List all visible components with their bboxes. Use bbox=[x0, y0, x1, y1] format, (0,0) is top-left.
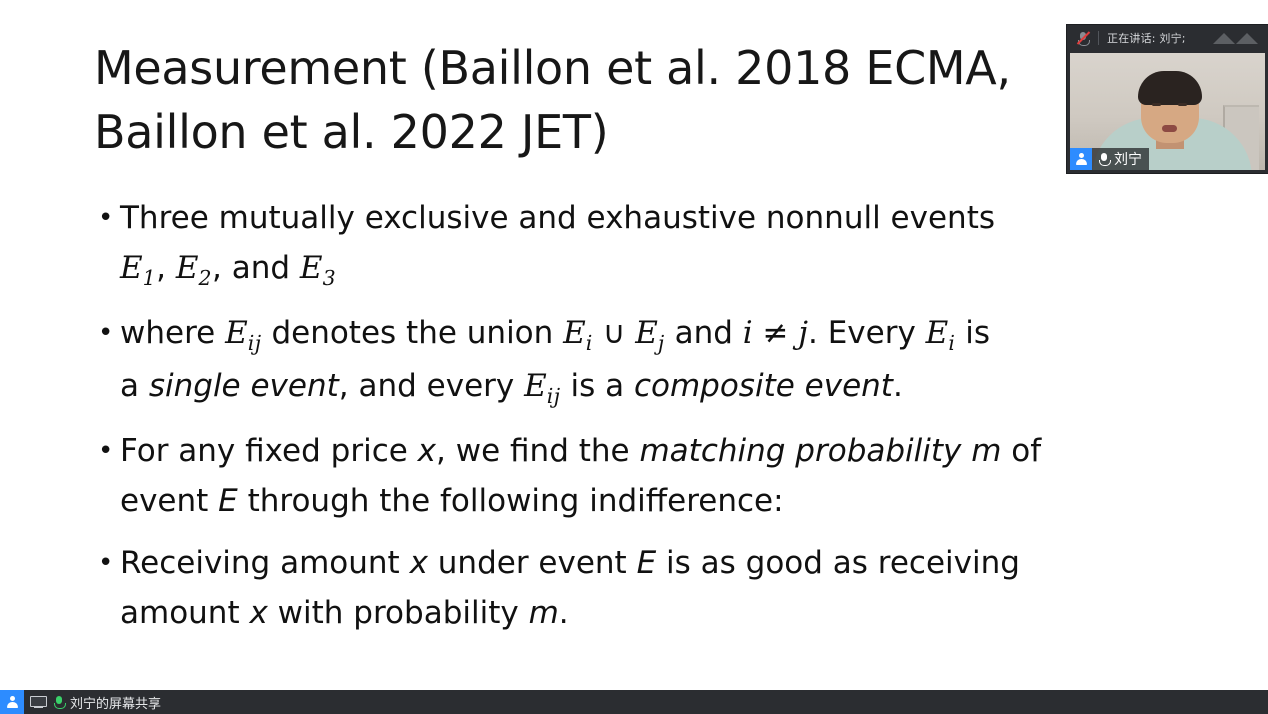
union-operator: ∪ bbox=[593, 315, 635, 351]
text-denotes-union: denotes the union bbox=[262, 315, 564, 351]
math-var-eij: Eij bbox=[225, 315, 262, 351]
bullet-marker-icon: • bbox=[98, 193, 113, 243]
text-every: . Every bbox=[808, 315, 926, 351]
math-var-x-3: x bbox=[249, 595, 267, 631]
math-var-E: E bbox=[218, 483, 238, 519]
video-person-hair bbox=[1138, 71, 1202, 105]
math-var-eij-2: Eij bbox=[524, 368, 561, 404]
bullet-indifference: • Receiving amount x under event E is as… bbox=[92, 538, 1182, 638]
text-for-any-fixed-price: For any fixed price bbox=[120, 433, 418, 469]
active-speaker-label: 正在讲话: 刘宁; bbox=[1107, 30, 1186, 46]
bullet-events: • Three mutually exclusive and exhaustiv… bbox=[92, 193, 1182, 296]
text-amount: amount bbox=[120, 595, 249, 631]
bullet-events-line-2: E1, E2, and E3 bbox=[120, 243, 1182, 296]
bullet-events-line-1: Three mutually exclusive and exhaustive … bbox=[120, 193, 1182, 243]
math-var-j: j bbox=[798, 315, 808, 351]
bullet-union-line-2: a single event, and every Eij is a compo… bbox=[120, 361, 1182, 414]
math-var-ej: Ej bbox=[635, 315, 664, 351]
math-var-e3: E3 bbox=[300, 250, 336, 286]
text-as-good-as-receiving: is as good as receiving bbox=[656, 545, 1020, 581]
slide-title-line-2: Baillon et al. 2022 JET) bbox=[94, 105, 608, 159]
emphasis-composite-event: composite event bbox=[634, 368, 893, 404]
text-and: , and bbox=[212, 250, 300, 286]
math-var-m: m bbox=[529, 595, 559, 631]
screen-share-status-label: 刘宁的屏幕共享 bbox=[67, 693, 161, 712]
text-with-probability: with probability bbox=[268, 595, 529, 631]
math-var-i: i bbox=[743, 315, 753, 351]
text-period: . bbox=[893, 368, 903, 404]
text-of: of bbox=[1001, 433, 1041, 469]
text-is: is bbox=[955, 315, 990, 351]
emphasis-single-event: single event bbox=[149, 368, 339, 404]
bullet-marker-icon: • bbox=[98, 426, 113, 476]
math-var-E-2: E bbox=[637, 545, 657, 581]
text-where: where bbox=[120, 315, 225, 351]
text-a: a bbox=[120, 368, 149, 404]
bullet-indifference-line-1: Receiving amount x under event E is as g… bbox=[120, 538, 1182, 588]
emphasis-matching-probability: matching probability m bbox=[639, 433, 1001, 469]
bullet-indifference-line-2: amount x with probability m. bbox=[120, 588, 1182, 638]
participant-video-panel[interactable]: 正在讲话: 刘宁; 刘宁 bbox=[1067, 25, 1268, 173]
page-title: Measurement (Baillon et al. 2018 ECMA, B… bbox=[94, 36, 1054, 164]
not-equal-operator: ≠ bbox=[753, 315, 799, 351]
text-receiving-amount: Receiving amount bbox=[120, 545, 410, 581]
bullet-matching-line-1: For any fixed price x, we find the match… bbox=[120, 426, 1182, 476]
bullet-matching-line-2: event E through the following indifferen… bbox=[120, 476, 1182, 526]
mic-on-icon bbox=[1097, 151, 1111, 167]
chevrons-collapse-icon[interactable] bbox=[1213, 33, 1258, 44]
slide-bullet-list: • Three mutually exclusive and exhaustiv… bbox=[92, 193, 1182, 638]
bullet-marker-icon: • bbox=[98, 538, 113, 588]
text-we-find-the: , we find the bbox=[436, 433, 639, 469]
bullet-marker-icon: • bbox=[98, 308, 113, 358]
toolbar-divider bbox=[1098, 31, 1099, 45]
video-person-mouth bbox=[1162, 125, 1177, 132]
participant-name-label: 刘宁 bbox=[1112, 149, 1149, 169]
text-event: event bbox=[120, 483, 218, 519]
slide-title-line-1: Measurement (Baillon et al. 2018 ECMA, bbox=[94, 41, 1011, 95]
text-under-event: under event bbox=[428, 545, 637, 581]
math-var-ei-2: Ei bbox=[926, 315, 956, 351]
text-comma-1: , bbox=[156, 250, 176, 286]
person-icon bbox=[1070, 148, 1092, 170]
text-and-2: and bbox=[665, 315, 743, 351]
math-var-ei: Ei bbox=[563, 315, 593, 351]
screen-share-status-bar: 刘宁的屏幕共享 bbox=[0, 690, 1268, 714]
mic-muted-icon[interactable] bbox=[1075, 30, 1091, 46]
bullet-union: • where Eij denotes the union Ei ∪ Ej an… bbox=[92, 308, 1182, 414]
screen-share-icon bbox=[30, 695, 47, 709]
math-var-x: x bbox=[418, 433, 436, 469]
bullet-union-line-1: where Eij denotes the union Ei ∪ Ej and … bbox=[120, 308, 1182, 361]
video-panel-toolbar[interactable]: 正在讲话: 刘宁; bbox=[1067, 25, 1268, 51]
video-person-eye-right bbox=[1178, 103, 1187, 106]
math-var-x-2: x bbox=[410, 545, 428, 581]
text-through-indifference: through the following indifference: bbox=[238, 483, 784, 519]
participant-video-feed[interactable]: 刘宁 bbox=[1070, 53, 1265, 170]
mic-on-icon bbox=[52, 694, 66, 710]
math-var-e2: E2 bbox=[176, 250, 212, 286]
math-var-e1: E1 bbox=[120, 250, 156, 286]
video-person-eye-left bbox=[1152, 103, 1161, 106]
text-is-a: is a bbox=[561, 368, 634, 404]
participant-name-tag: 刘宁 bbox=[1070, 148, 1149, 170]
person-icon bbox=[0, 690, 24, 714]
bullet-matching-probability: • For any fixed price x, we find the mat… bbox=[92, 426, 1182, 526]
text-period-2: . bbox=[559, 595, 569, 631]
text-and-every: , and every bbox=[339, 368, 524, 404]
